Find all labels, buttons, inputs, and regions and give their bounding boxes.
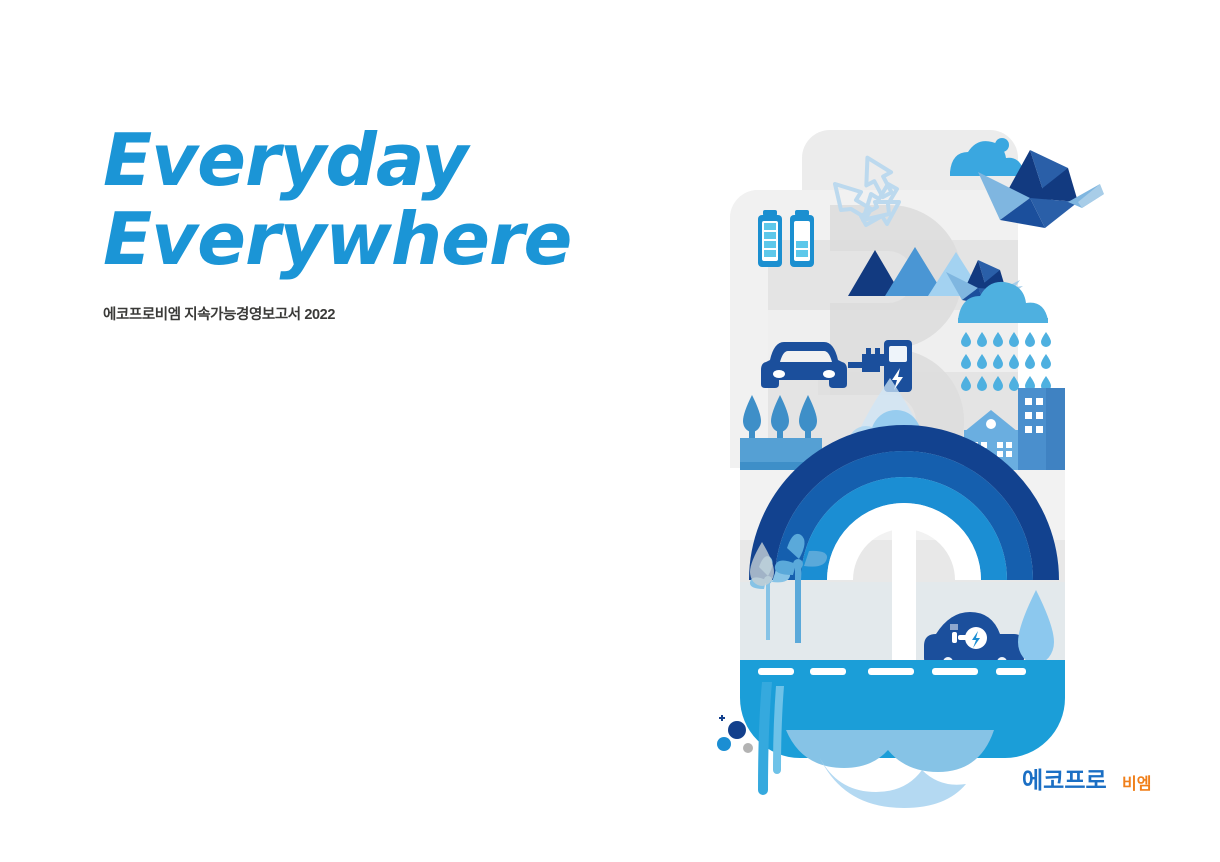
sustainability-cover-illustration bbox=[700, 110, 1120, 820]
cloud-base-icon bbox=[786, 730, 994, 808]
title-line-2: Everywhere bbox=[103, 197, 571, 282]
logo-secondary-text: 비엠 bbox=[1122, 774, 1151, 793]
cover-subtitle: 에코프로비엠 지속가능경영보고서 2022 bbox=[103, 303, 335, 324]
cover-page: Everyday Everywhere 에코프로비엠 지속가능경영보고서 202… bbox=[0, 0, 1220, 862]
cover-title: Everyday Everywhere bbox=[103, 118, 571, 282]
title-line-1: Everyday bbox=[103, 118, 571, 203]
company-logo: 에코프로 비엠 bbox=[1022, 766, 1168, 796]
logo-primary-text: 에코프로 bbox=[1022, 767, 1107, 793]
